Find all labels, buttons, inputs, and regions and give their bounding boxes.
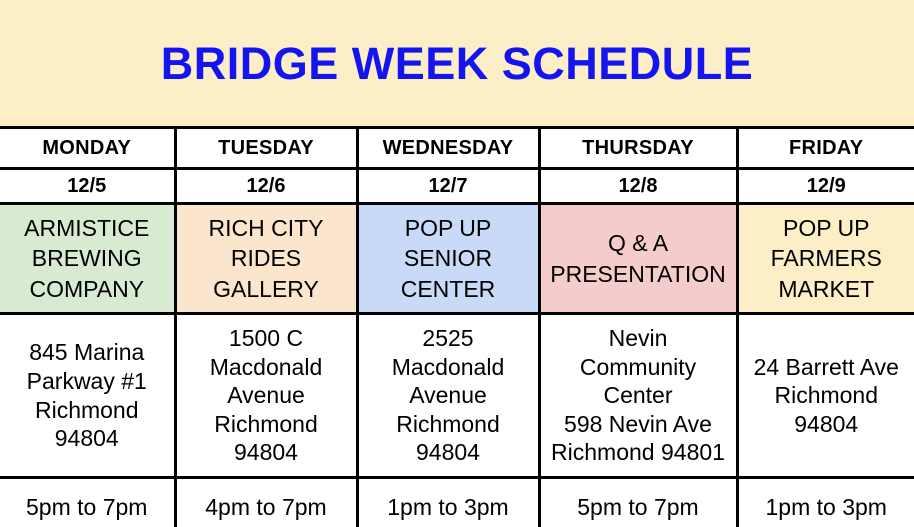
event-cell-tuesday: RICH CITY RIDES GALLERY [175, 204, 357, 314]
weekly-schedule-table: MONDAY TUESDAY WEDNESDAY THURSDAY FRIDAY… [0, 126, 914, 527]
page-title: BRIDGE WEEK SCHEDULE [161, 41, 754, 86]
date-cell-friday: 12/9 [737, 169, 914, 204]
date-cell-thursday: 12/8 [539, 169, 737, 204]
table-row-days: MONDAY TUESDAY WEDNESDAY THURSDAY FRIDAY [0, 128, 914, 169]
schedule-page: BRIDGE WEEK SCHEDULE MONDAY TUESDAY WEDN… [0, 0, 914, 527]
address-text: 2525 Macdonald Avenue Richmond 94804 [363, 324, 534, 467]
day-label: MONDAY [4, 137, 170, 160]
event-name: ARMISTICE BREWING COMPANY [4, 213, 170, 304]
event-name: POP UP FARMERS MARKET [743, 213, 911, 304]
time-label: 1pm to 3pm [363, 494, 534, 521]
event-cell-friday: POP UP FARMERS MARKET [737, 204, 914, 314]
table-row-events: ARMISTICE BREWING COMPANY RICH CITY RIDE… [0, 204, 914, 314]
date-cell-tuesday: 12/6 [175, 169, 357, 204]
event-name: POP UP SENIOR CENTER [363, 213, 534, 304]
table-row-times: 5pm to 7pm 4pm to 7pm 1pm to 3pm 5pm to … [0, 478, 914, 527]
address-text: Nevin Community Center 598 Nevin Ave Ric… [545, 324, 732, 467]
time-label: 1pm to 3pm [743, 494, 911, 521]
address-text: 24 Barrett Ave Richmond 94804 [743, 353, 911, 439]
event-cell-thursday: Q & A PRESENTATION [539, 204, 737, 314]
event-cell-monday: ARMISTICE BREWING COMPANY [0, 204, 175, 314]
day-header-thursday: THURSDAY [539, 128, 737, 169]
date-cell-monday: 12/5 [0, 169, 175, 204]
day-header-tuesday: TUESDAY [175, 128, 357, 169]
address-text: 1500 C Macdonald Avenue Richmond 94804 [181, 324, 352, 467]
table-row-dates: 12/5 12/6 12/7 12/8 12/9 [0, 169, 914, 204]
address-cell-monday: 845 Marina Parkway #1 Richmond 94804 [0, 314, 175, 478]
day-header-wednesday: WEDNESDAY [357, 128, 539, 169]
title-banner: BRIDGE WEEK SCHEDULE [0, 0, 914, 126]
date-label: 12/5 [4, 175, 170, 198]
date-label: 12/8 [545, 175, 732, 198]
table-row-addresses: 845 Marina Parkway #1 Richmond 94804 150… [0, 314, 914, 478]
day-header-friday: FRIDAY [737, 128, 914, 169]
address-cell-thursday: Nevin Community Center 598 Nevin Ave Ric… [539, 314, 737, 478]
time-cell-monday: 5pm to 7pm [0, 478, 175, 527]
event-cell-wednesday: POP UP SENIOR CENTER [357, 204, 539, 314]
time-cell-wednesday: 1pm to 3pm [357, 478, 539, 527]
date-cell-wednesday: 12/7 [357, 169, 539, 204]
day-label: FRIDAY [743, 137, 911, 160]
address-cell-friday: 24 Barrett Ave Richmond 94804 [737, 314, 914, 478]
date-label: 12/9 [743, 175, 911, 198]
address-cell-tuesday: 1500 C Macdonald Avenue Richmond 94804 [175, 314, 357, 478]
day-label: WEDNESDAY [363, 137, 534, 160]
date-label: 12/6 [181, 175, 352, 198]
day-label: TUESDAY [181, 137, 352, 160]
address-text: 845 Marina Parkway #1 Richmond 94804 [4, 338, 170, 452]
time-cell-friday: 1pm to 3pm [737, 478, 914, 527]
time-label: 5pm to 7pm [545, 494, 732, 521]
address-cell-wednesday: 2525 Macdonald Avenue Richmond 94804 [357, 314, 539, 478]
time-label: 4pm to 7pm [181, 494, 352, 521]
time-cell-thursday: 5pm to 7pm [539, 478, 737, 527]
time-label: 5pm to 7pm [4, 494, 170, 521]
day-header-monday: MONDAY [0, 128, 175, 169]
event-name: Q & A PRESENTATION [545, 228, 732, 289]
event-name: RICH CITY RIDES GALLERY [181, 213, 352, 304]
day-label: THURSDAY [545, 137, 732, 160]
time-cell-tuesday: 4pm to 7pm [175, 478, 357, 527]
date-label: 12/7 [363, 175, 534, 198]
